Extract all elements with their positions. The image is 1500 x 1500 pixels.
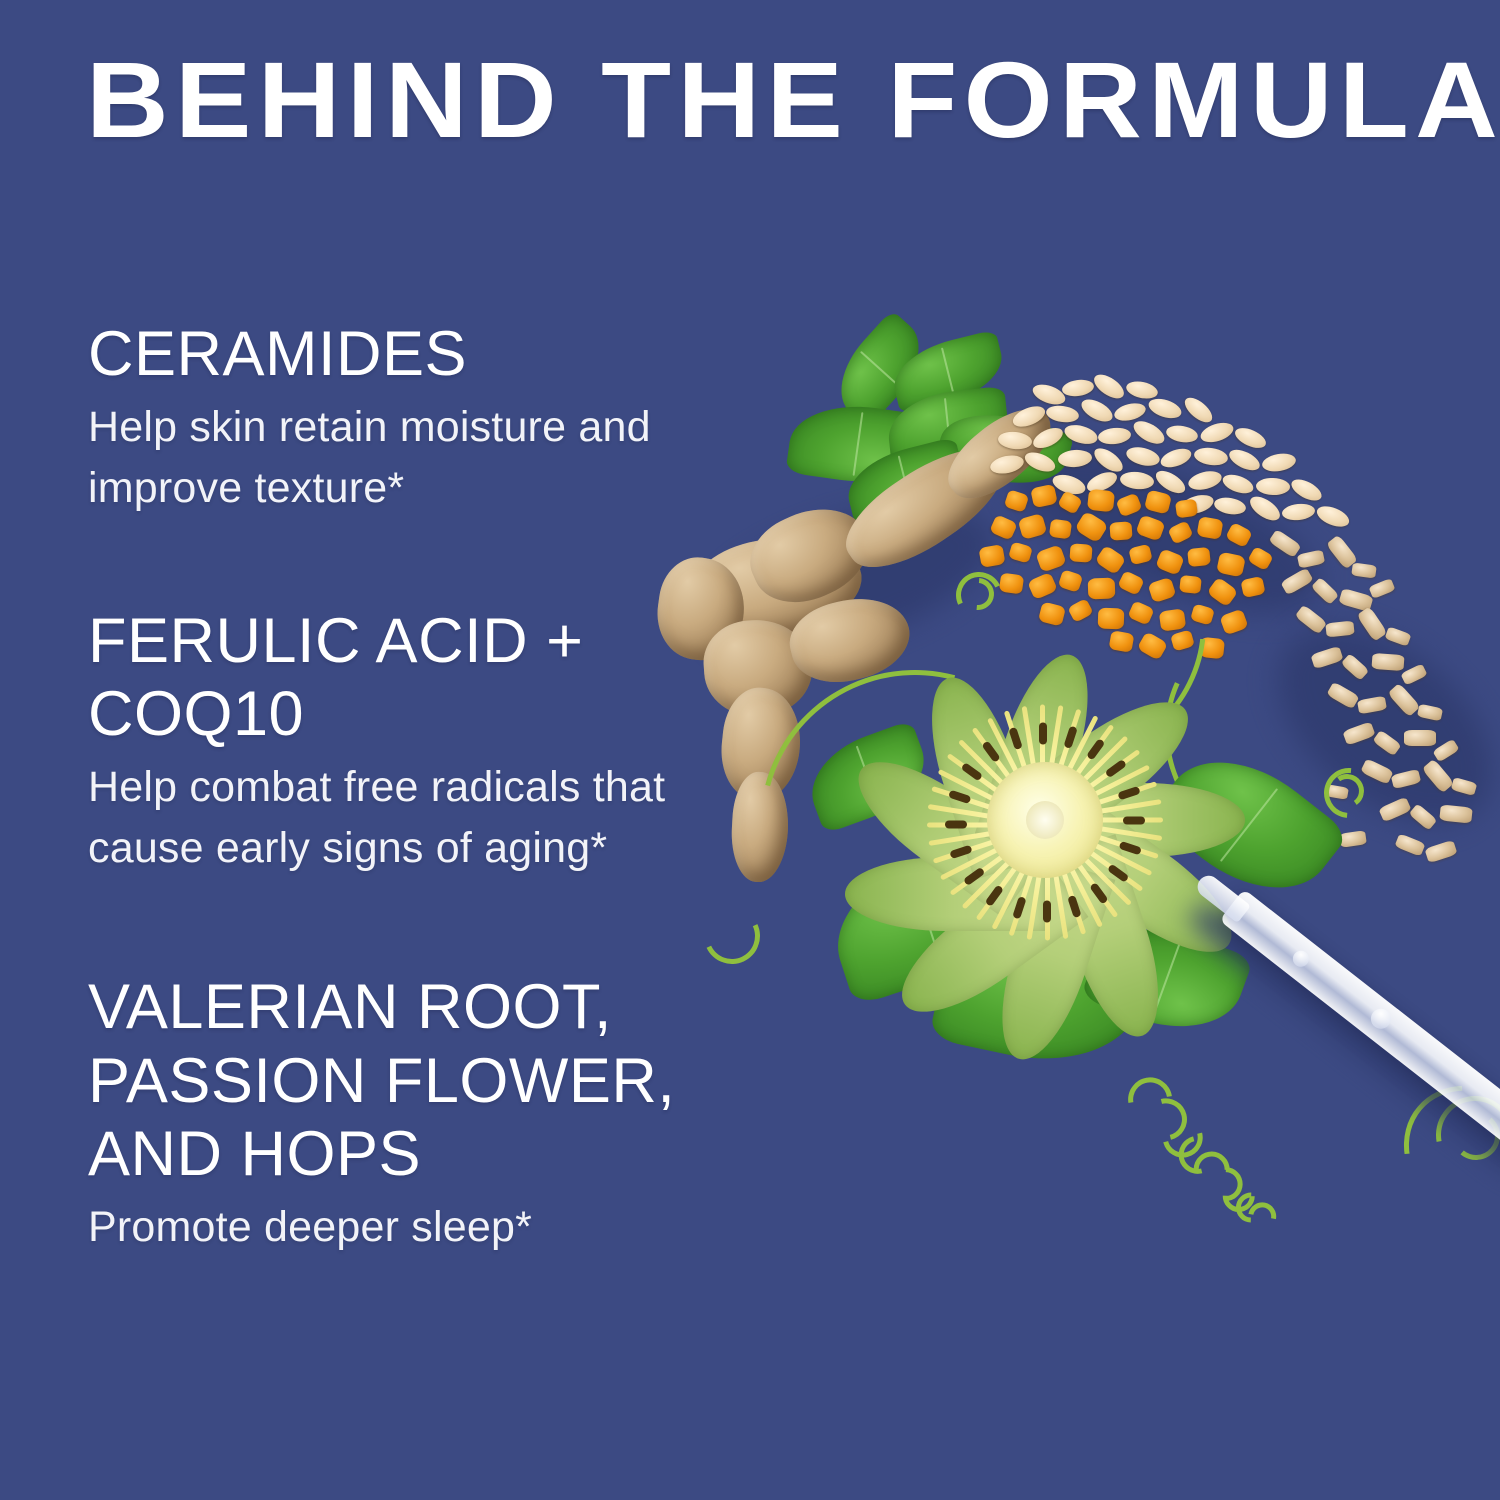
ingredient-heading-ferulic-acid-coq10: FERULIC ACID + COQ10 (88, 605, 748, 751)
ingredient-heading-valerian-passion-hops: VALERIAN ROOT, PASSION FLOWER, AND HOPS (88, 971, 748, 1190)
ingredient-list: CERAMIDES Help skin retain moisture and … (88, 318, 748, 1258)
ingredient-block-ceramides: CERAMIDES Help skin retain moisture and … (88, 318, 748, 519)
poster-canvas: BEHIND THE FORMULA (0, 0, 1500, 1500)
ingredient-description-ceramides: Help skin retain moisture and improve te… (88, 397, 728, 519)
page-title: BEHIND THE FORMULA (86, 46, 1464, 154)
flower-center (987, 762, 1103, 878)
ingredient-block-ferulic-acid-coq10: FERULIC ACID + COQ10 Help combat free ra… (88, 605, 748, 879)
ingredient-heading-ceramides: CERAMIDES (88, 318, 748, 391)
ingredient-description-valerian-passion-hops: Promote deeper sleep* (88, 1197, 728, 1258)
ingredient-description-ferulic-acid-coq10: Help combat free radicals that cause ear… (88, 757, 728, 879)
ingredient-block-valerian-passion-hops: VALERIAN ROOT, PASSION FLOWER, AND HOPS … (88, 971, 748, 1257)
ingredient-photo-composition (640, 320, 1500, 1280)
passion-flower (830, 620, 1260, 1020)
